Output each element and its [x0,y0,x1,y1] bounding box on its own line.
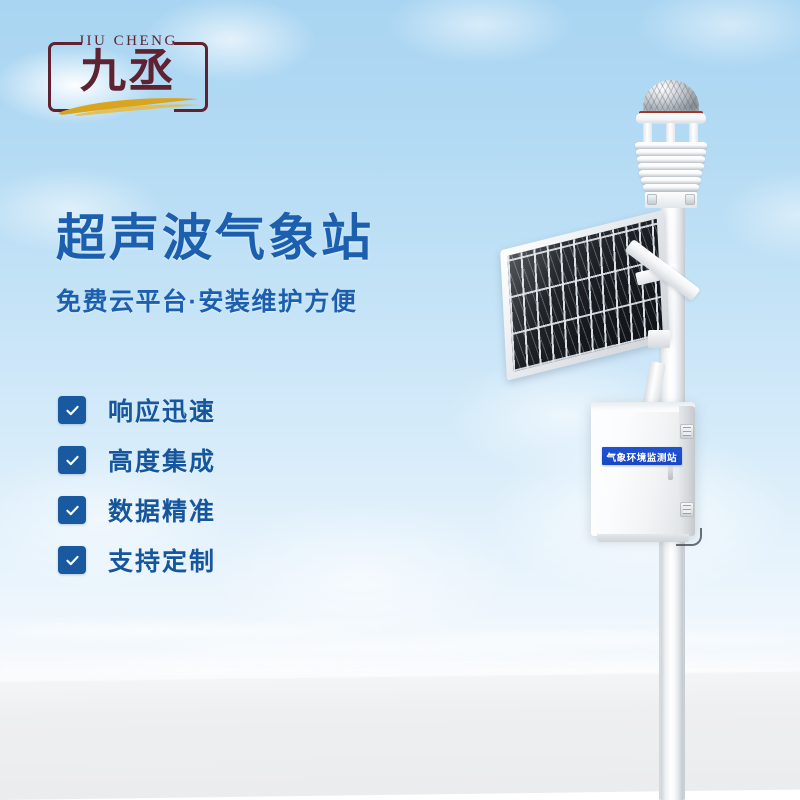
list-item: 高度集成 [58,436,358,484]
logo-swoosh-icon [54,94,202,116]
brand-logo: JIU CHENG 九丞 [48,30,208,118]
check-icon [58,546,86,574]
list-item: 数据精准 [58,486,358,534]
product-banner: JIU CHENG 九丞 超声波气象站 免费云平台·安装维护方便 响应迅速 高度… [0,0,800,800]
feature-label: 高度集成 [108,442,216,478]
feature-label: 数据精准 [108,492,216,528]
check-icon [58,396,86,424]
list-item: 支持定制 [58,536,358,584]
check-icon [58,446,86,474]
headline-block: 超声波气象站 免费云平台·安装维护方便 [56,212,486,318]
feature-label: 支持定制 [108,542,216,578]
logo-chinese-text: 九丞 [48,46,208,98]
feature-label: 响应迅速 [108,392,216,428]
list-item: 响应迅速 [58,386,358,434]
check-icon [58,496,86,524]
page-subtitle: 免费云平台·安装维护方便 [56,282,486,318]
ground-surface [0,672,800,800]
feature-list: 响应迅速 高度集成 数据精准 支持定制 [58,386,358,586]
page-title: 超声波气象站 [56,212,486,265]
